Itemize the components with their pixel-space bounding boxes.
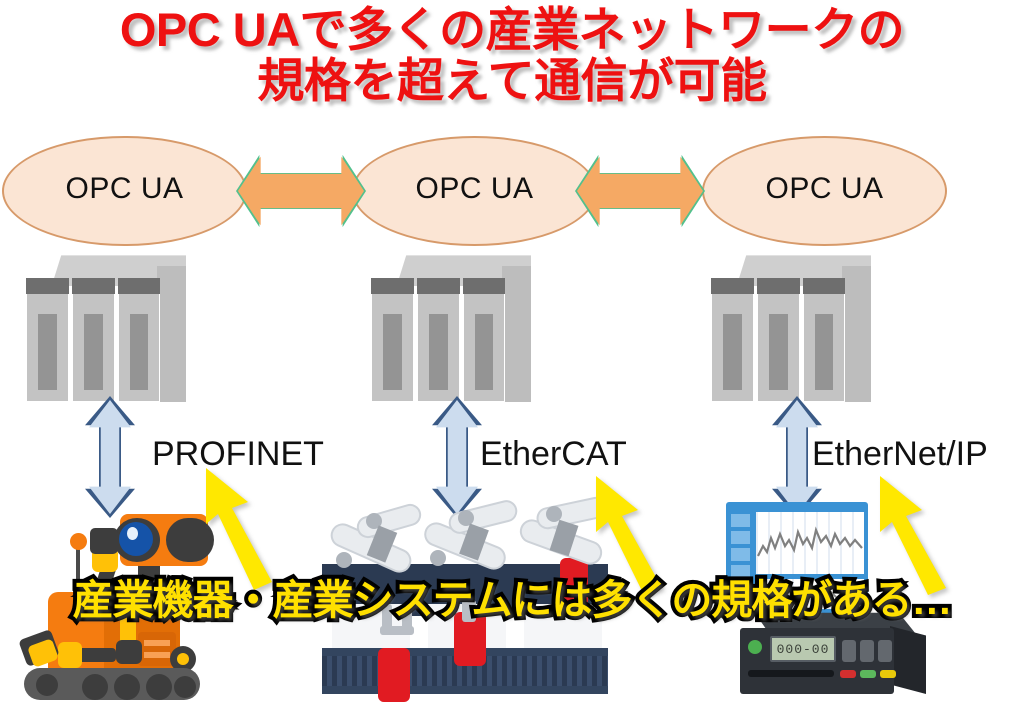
workpiece-red bbox=[378, 648, 410, 702]
bidirectional-arrow-left bbox=[236, 150, 366, 232]
page-title: OPC UAで多くの産業ネットワークの 規格を超えて通信が可能 bbox=[0, 6, 1024, 104]
device-button[interactable] bbox=[860, 640, 874, 662]
opcua-label-left: OPC UA bbox=[65, 172, 183, 206]
rack-bay bbox=[463, 278, 506, 402]
server-rack-left bbox=[26, 252, 186, 402]
device-button-red[interactable] bbox=[840, 670, 856, 678]
server-rack-center bbox=[371, 252, 531, 402]
rack-bay bbox=[26, 278, 69, 402]
device-button[interactable] bbox=[878, 640, 892, 662]
device-button-yellow[interactable] bbox=[880, 670, 896, 678]
device-slot bbox=[748, 670, 834, 677]
signal-waveform bbox=[756, 512, 864, 574]
rack-bay bbox=[803, 278, 846, 402]
industrial-robot-illustration bbox=[8, 500, 223, 700]
rack-bay bbox=[711, 278, 754, 402]
rack-bays bbox=[26, 278, 160, 402]
rack-bay bbox=[417, 278, 460, 402]
protocol-label-ethercat: EtherCAT bbox=[480, 435, 627, 474]
device-power-led bbox=[748, 640, 762, 654]
rack-bay bbox=[757, 278, 800, 402]
rack-bay bbox=[72, 278, 115, 402]
robot-arm-right-joint bbox=[116, 640, 142, 664]
bidirectional-arrow-right bbox=[575, 150, 705, 232]
title-line-1: OPC UAで多くの産業ネットワークの bbox=[0, 6, 1024, 53]
opcua-ellipse-right: OPC UA bbox=[702, 136, 947, 246]
robot-arm-joint bbox=[336, 552, 352, 568]
opcua-ellipse-center: OPC UA bbox=[352, 136, 597, 246]
device-lcd: 000-00 bbox=[770, 636, 836, 662]
callout-arrow-left bbox=[196, 460, 286, 590]
device-right-face bbox=[890, 626, 926, 694]
rack-side-face bbox=[842, 266, 871, 402]
server-rack-right bbox=[711, 252, 871, 402]
protocol-label-ethernetip: EtherNet/IP bbox=[812, 435, 988, 474]
robot-camera-highlight bbox=[127, 527, 138, 540]
callout-arrow-right bbox=[872, 470, 962, 595]
robot-shoulder-right-in bbox=[177, 653, 189, 665]
robot-arm-line-illustration bbox=[322, 500, 608, 704]
robot-elbow bbox=[58, 642, 82, 668]
opcua-label-center: OPC UA bbox=[415, 172, 533, 206]
rack-bay bbox=[371, 278, 414, 402]
rack-bays bbox=[371, 278, 505, 402]
rack-side-face bbox=[502, 266, 531, 402]
rack-bay bbox=[118, 278, 161, 402]
opcua-ellipse-left: OPC UA bbox=[2, 136, 247, 246]
robot-antenna-tip bbox=[70, 533, 87, 550]
rack-bays bbox=[711, 278, 845, 402]
device-button-green[interactable] bbox=[860, 670, 876, 678]
title-line-2: 規格を超えて通信が可能 bbox=[0, 57, 1024, 104]
rack-side-face bbox=[157, 266, 186, 402]
device-button[interactable] bbox=[842, 640, 856, 662]
robot-camera-lens bbox=[119, 522, 153, 556]
diagram-canvas: OPC UAで多くの産業ネットワークの 規格を超えて通信が可能 OPC UA O… bbox=[0, 0, 1024, 704]
robot-hand-upper bbox=[90, 528, 118, 554]
robot-arm-joint bbox=[430, 550, 446, 566]
measurement-instrument-illustration: 000-00 bbox=[718, 500, 1008, 704]
opcua-label-right: OPC UA bbox=[765, 172, 883, 206]
workpiece-red bbox=[560, 558, 588, 606]
callout-arrow-center bbox=[588, 470, 678, 595]
